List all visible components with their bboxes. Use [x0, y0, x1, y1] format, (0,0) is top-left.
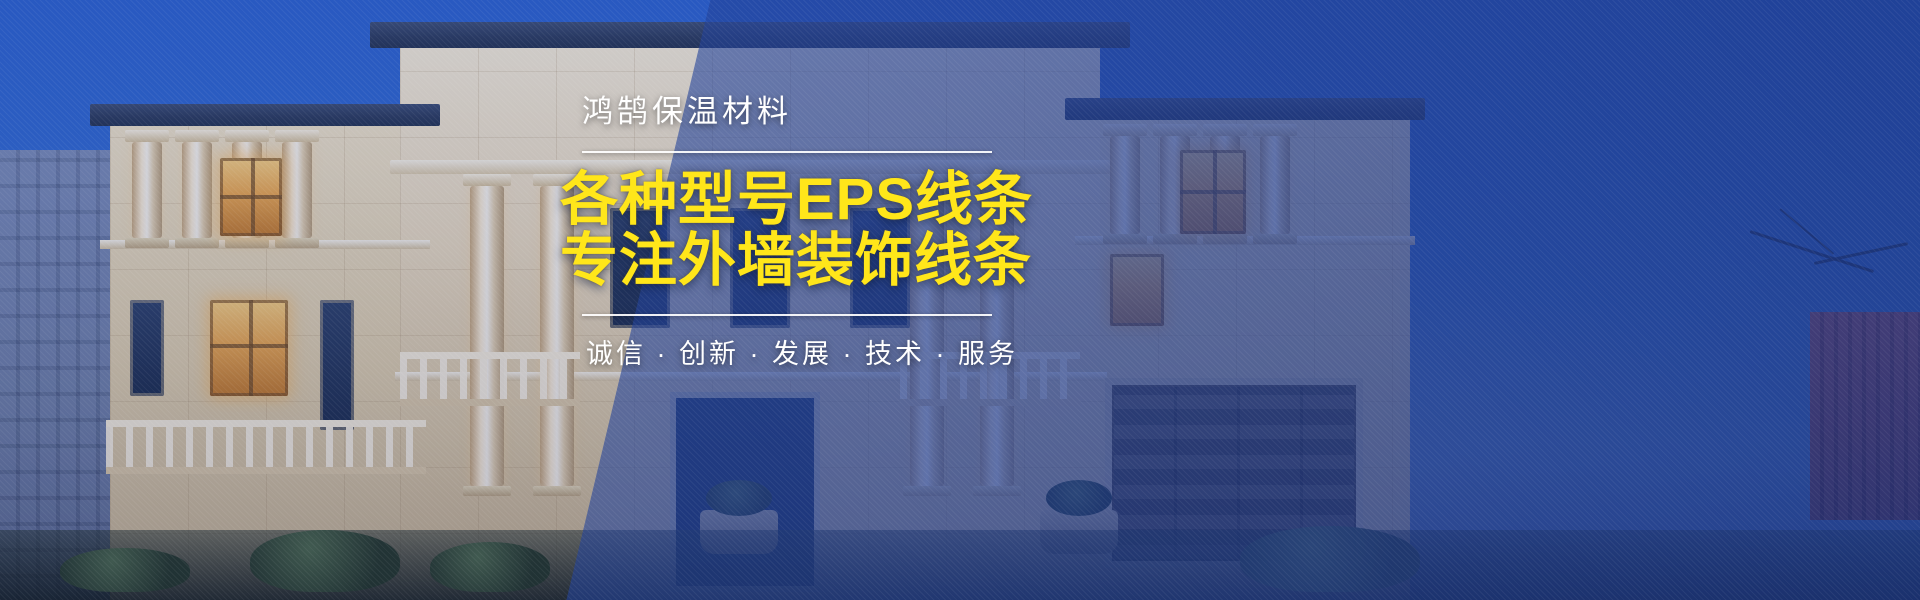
headline-line-2: 专注外墙装饰线条: [560, 230, 1030, 291]
hero-banner: 鸿鹄保温材料 各种型号EPS线条 专注外墙装饰线条 诚信 · 创新 · 发展 ·…: [0, 0, 1920, 600]
tagline: 诚信 · 创新 · 发展 · 技术 · 服务: [586, 332, 1030, 371]
headline-line-1: 各种型号EPS线条: [560, 169, 1030, 230]
brand-name: 鸿鹄保温材料: [582, 96, 1030, 127]
banner-copy: 鸿鹄保温材料 各种型号EPS线条 专注外墙装饰线条 诚信 · 创新 · 发展 ·…: [560, 96, 1030, 371]
divider-top: [582, 151, 992, 153]
headline: 各种型号EPS线条 专注外墙装饰线条: [560, 169, 1030, 292]
divider-bottom: [582, 314, 992, 316]
